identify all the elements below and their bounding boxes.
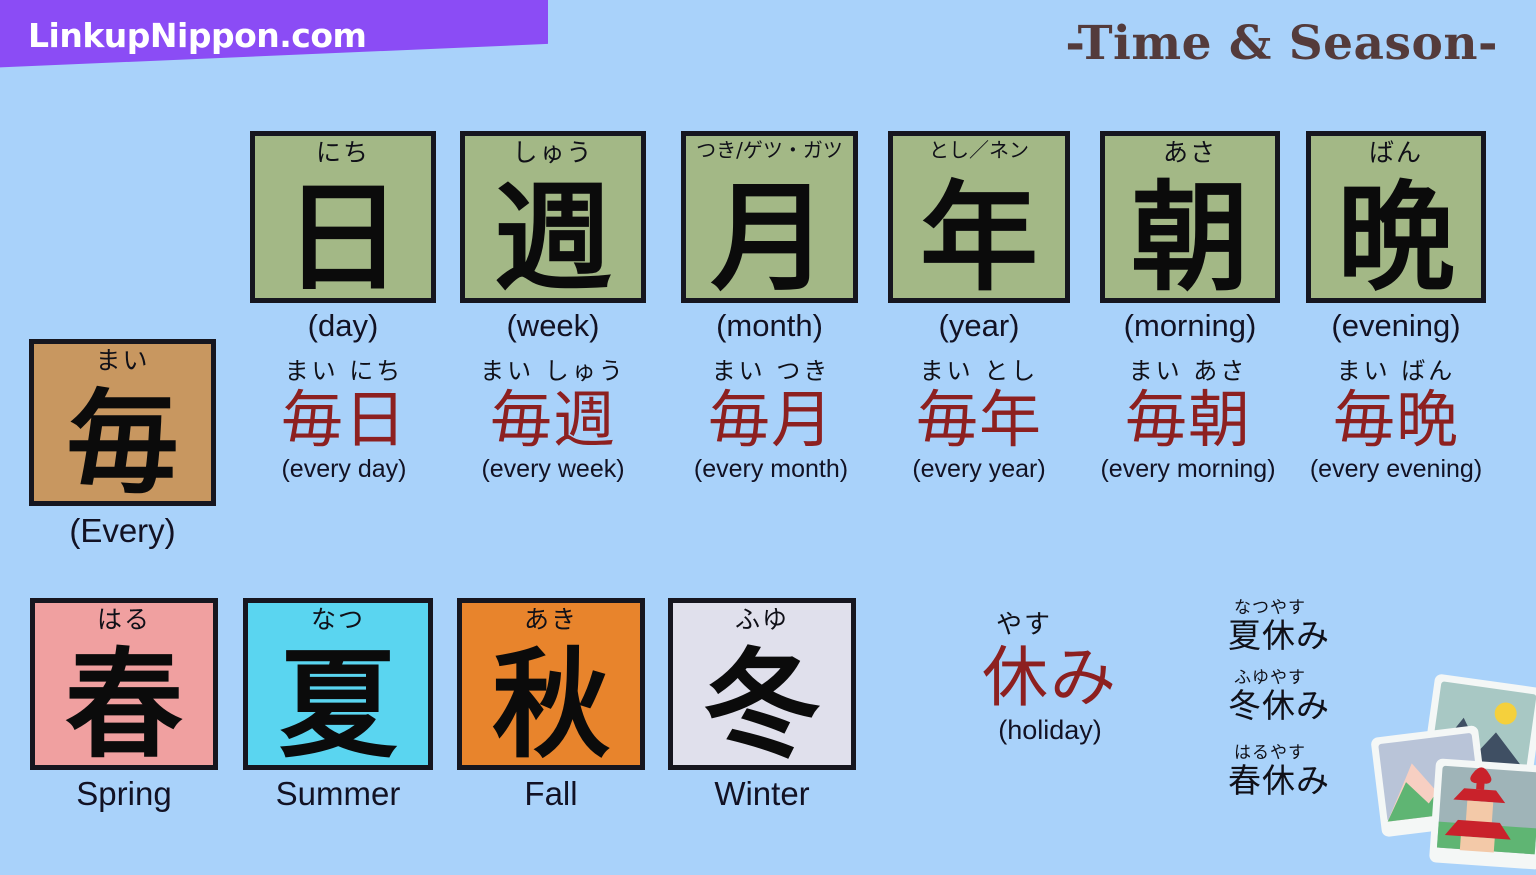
compound-every-evening: まい ばん 毎晩 (every evening) bbox=[1300, 358, 1492, 483]
label-month: (month) bbox=[681, 308, 858, 344]
compound-english: (every morning) bbox=[1093, 456, 1283, 484]
compound-furigana: まい とし bbox=[890, 358, 1068, 384]
seasonal-holiday-kanji: 夏休み bbox=[1228, 618, 1330, 654]
furigana-spring: はる bbox=[35, 607, 213, 632]
compound-english: (every month) bbox=[681, 456, 861, 484]
label-winter: Winter bbox=[668, 775, 856, 813]
seasonal-holiday-kanji: 冬休み bbox=[1228, 688, 1330, 724]
photo-stack-icon bbox=[1370, 670, 1536, 870]
compound-every-month: まい つき 毎月 (every month) bbox=[681, 358, 861, 483]
furigana-every: まい bbox=[34, 348, 211, 373]
season-card-summer: なつ 夏 bbox=[243, 598, 433, 770]
furigana-week: しゅう bbox=[465, 140, 641, 165]
furigana-summer: なつ bbox=[248, 607, 428, 632]
furigana-fall: あき bbox=[462, 607, 640, 632]
furigana-morning: あさ bbox=[1105, 140, 1275, 165]
holiday-block: やす 休み (holiday) bbox=[940, 612, 1160, 744]
season-card-spring: はる 春 bbox=[30, 598, 218, 770]
holiday-furigana: やす bbox=[914, 612, 1134, 638]
compound-kanji: 毎年 bbox=[890, 384, 1068, 455]
kanji-year: 年 bbox=[893, 175, 1065, 302]
season-card-winter: ふゆ 冬 bbox=[668, 598, 856, 770]
compound-furigana: まい あさ bbox=[1093, 358, 1283, 384]
compound-every-year: まい とし 毎年 (every year) bbox=[890, 358, 1068, 483]
time-card-year: とし／ネン 年 bbox=[888, 131, 1070, 303]
compound-kanji: 毎日 bbox=[255, 384, 433, 455]
label-morning: (morning) bbox=[1100, 308, 1280, 344]
compound-kanji: 毎晩 bbox=[1300, 384, 1492, 455]
compound-english: (every day) bbox=[255, 456, 433, 484]
time-card-morning: あさ 朝 bbox=[1100, 131, 1280, 303]
kanji-every: 毎 bbox=[34, 384, 211, 505]
kanji-morning: 朝 bbox=[1105, 175, 1275, 302]
compound-furigana: まい ばん bbox=[1300, 358, 1492, 384]
label-evening: (evening) bbox=[1306, 308, 1486, 344]
holiday-english: (holiday) bbox=[940, 717, 1160, 744]
label-week: (week) bbox=[460, 308, 646, 344]
kanji-month: 月 bbox=[686, 175, 853, 302]
brand-name: LinkupNippon.com bbox=[28, 16, 366, 55]
infographic-canvas: LinkupNippon.com -Time & Season- にち 日 (d… bbox=[0, 0, 1536, 864]
compound-english: (every week) bbox=[462, 456, 644, 484]
kanji-day: 日 bbox=[255, 175, 431, 302]
compound-english: (every evening) bbox=[1300, 456, 1492, 484]
furigana-year: とし／ネン bbox=[893, 140, 1065, 160]
compound-every-morning: まい あさ 毎朝 (every morning) bbox=[1093, 358, 1283, 483]
compound-kanji: 毎週 bbox=[462, 384, 644, 455]
compound-kanji: 毎月 bbox=[681, 384, 861, 455]
compound-kanji: 毎朝 bbox=[1093, 384, 1283, 455]
compound-every-week: まい しゅう 毎週 (every week) bbox=[462, 358, 644, 483]
every-card: まい 毎 bbox=[29, 339, 216, 506]
kanji-fall: 秋 bbox=[462, 642, 640, 769]
furigana-winter: ふゆ bbox=[673, 607, 851, 632]
kanji-evening: 晩 bbox=[1311, 175, 1481, 302]
time-card-evening: ばん 晩 bbox=[1306, 131, 1486, 303]
kanji-week: 週 bbox=[465, 175, 641, 302]
label-year: (year) bbox=[888, 308, 1070, 344]
time-card-month: つき/ゲツ・ガツ 月 bbox=[681, 131, 858, 303]
time-card-day: にち 日 bbox=[250, 131, 436, 303]
kanji-spring: 春 bbox=[35, 642, 213, 769]
furigana-day: にち bbox=[255, 140, 431, 165]
page-title: -Time & Season- bbox=[1065, 16, 1498, 71]
furigana-evening: ばん bbox=[1311, 140, 1481, 165]
label-spring: Spring bbox=[30, 775, 218, 813]
compound-furigana: まい しゅう bbox=[462, 358, 644, 384]
seasonal-holiday-spring: はるやす 春休み bbox=[1228, 745, 1330, 799]
kanji-summer: 夏 bbox=[248, 642, 428, 769]
season-card-fall: あき 秋 bbox=[457, 598, 645, 770]
label-summer: Summer bbox=[243, 775, 433, 813]
compound-every-day: まい にち 毎日 (every day) bbox=[255, 358, 433, 483]
label-every: (Every) bbox=[29, 512, 216, 550]
seasonal-holiday-kanji: 春休み bbox=[1228, 763, 1330, 799]
compound-english: (every year) bbox=[890, 456, 1068, 484]
seasonal-holiday-summer: なつやす 夏休み bbox=[1228, 600, 1330, 654]
seasonal-holiday-winter: ふゆやす 冬休み bbox=[1228, 670, 1330, 724]
compound-furigana: まい つき bbox=[681, 358, 861, 384]
time-card-week: しゅう 週 bbox=[460, 131, 646, 303]
compound-furigana: まい にち bbox=[255, 358, 433, 384]
holiday-kanji: 休み bbox=[940, 638, 1160, 717]
furigana-month: つき/ゲツ・ガツ bbox=[686, 140, 853, 160]
label-fall: Fall bbox=[457, 775, 645, 813]
label-day: (day) bbox=[250, 308, 436, 344]
kanji-winter: 冬 bbox=[673, 642, 851, 769]
